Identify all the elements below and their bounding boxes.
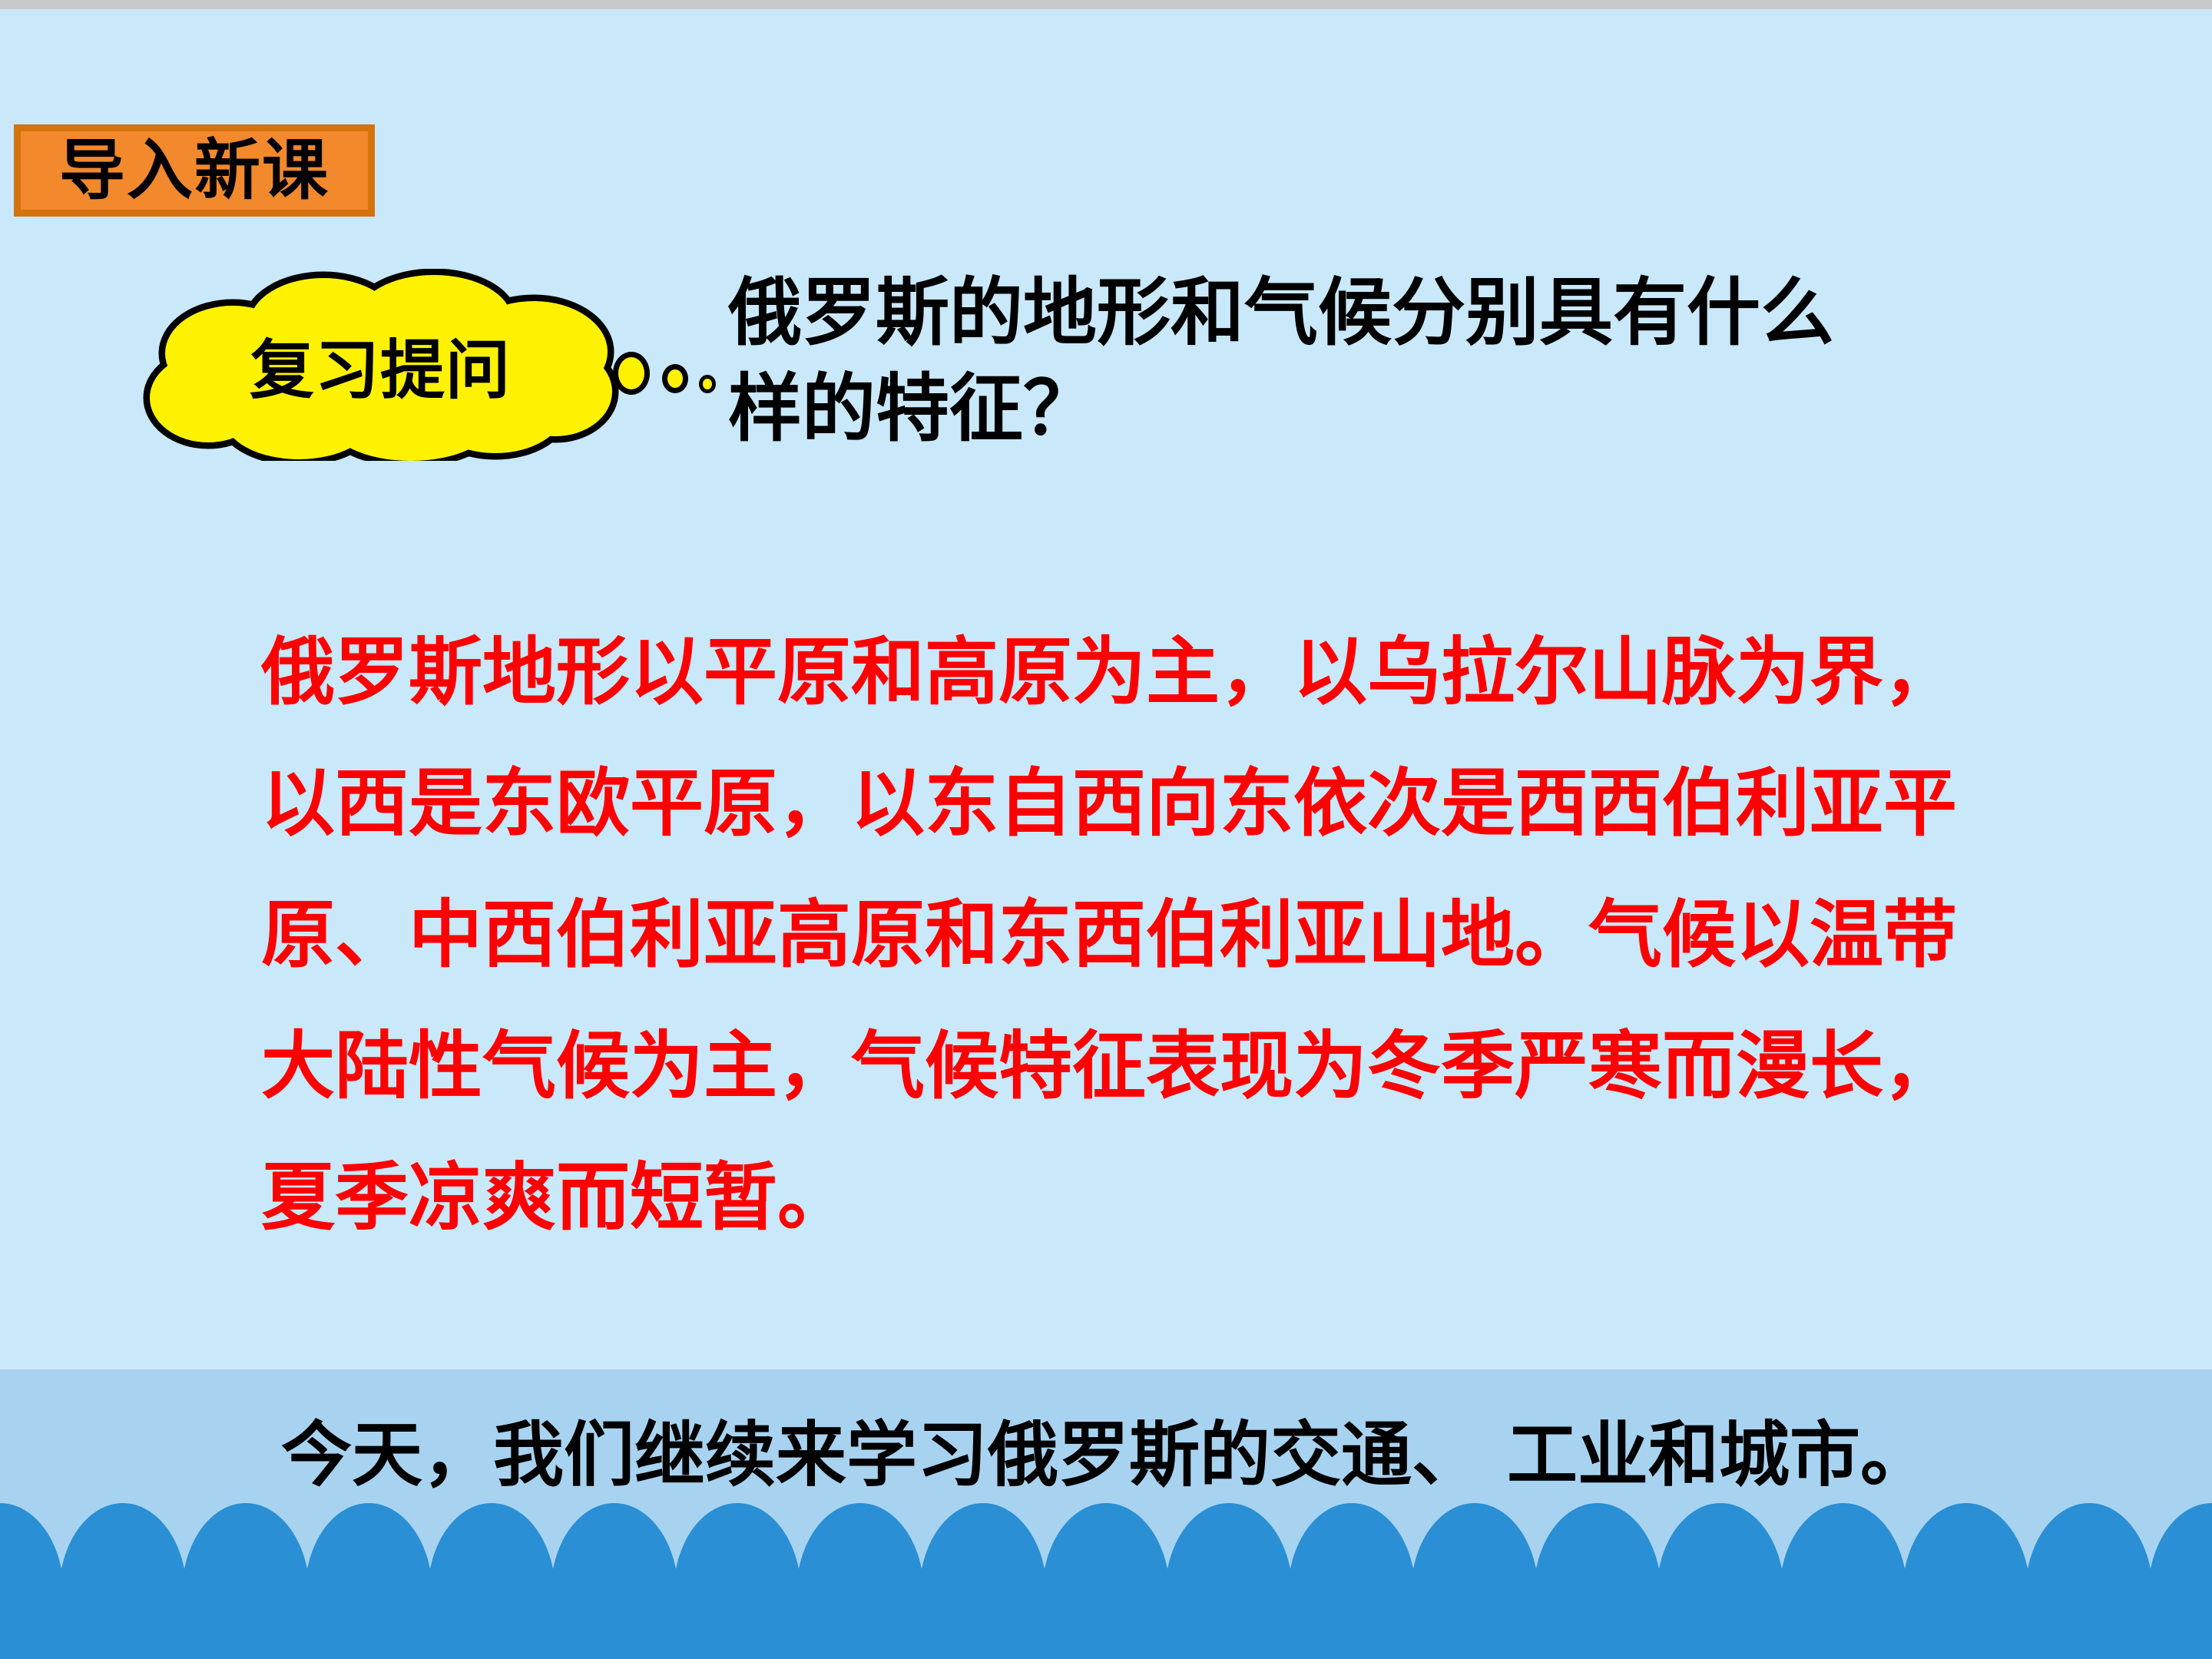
- thought-dot-large-icon: [613, 352, 650, 395]
- thought-cloud: 复习提问: [134, 269, 626, 461]
- lesson-summary-text: 今天，我们继续来学习俄罗斯的交通、 工业和城市。: [0, 1398, 2212, 1500]
- thought-dot-small-icon: [699, 375, 716, 393]
- review-answer: 俄罗斯地形以平原和高原为主，以乌拉尔山脉为界， 以西是东欧平原，以东自西向东依次…: [261, 607, 2005, 1263]
- review-answer-line-1: 俄罗斯地形以平原和高原为主，以乌拉尔山脉为界，: [261, 607, 2005, 738]
- review-question-line-1: 俄罗斯的地形和气候分别具有什么: [728, 265, 2065, 361]
- review-answer-line-4: 大陆性气候为主，气候特征表现为冬季严寒而漫长，: [261, 1001, 2005, 1132]
- review-answer-line-5: 夏季凉爽而短暂。: [261, 1132, 2005, 1263]
- review-question: 俄罗斯的地形和气候分别具有什么 样的特征？: [728, 265, 2065, 457]
- top-grey-strip: [0, 0, 2212, 9]
- review-answer-line-2: 以西是东欧平原，以东自西向东依次是西西伯利亚平: [261, 738, 2005, 869]
- slide-canvas: 导入新课: [0, 0, 2212, 1659]
- thought-dot-medium-icon: [662, 364, 688, 393]
- scallop-decoration: [0, 1498, 2212, 1659]
- review-answer-line-3: 原、中西伯利亚高原和东西伯利亚山地。气候以温带: [261, 869, 2005, 1001]
- section-title-label: 导入新课: [59, 137, 329, 204]
- review-question-line-2: 样的特征？: [728, 361, 2065, 457]
- section-title-badge: 导入新课: [14, 124, 375, 217]
